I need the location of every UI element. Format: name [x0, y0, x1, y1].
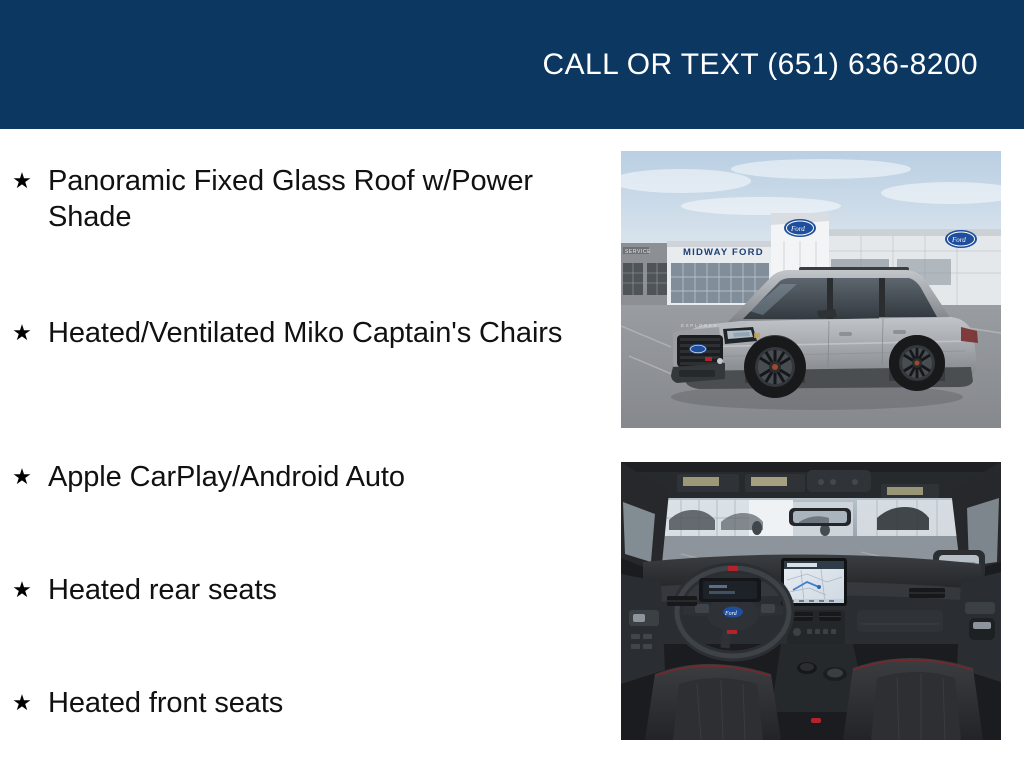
call-or-text-phone[interactable]: CALL OR TEXT (651) 636-8200 [543, 48, 978, 82]
list-item: ★ Heated/Ventilated Miko Captain's Chair… [10, 315, 590, 351]
svg-text:MIDWAY FORD: MIDWAY FORD [683, 247, 764, 258]
vehicle-interior-photo[interactable]: Ford [621, 462, 1001, 740]
feature-label: Heated rear seats [48, 572, 277, 608]
feature-list: ★ Panoramic Fixed Glass Roof w/Power Sha… [0, 129, 600, 768]
list-item: ★ Panoramic Fixed Glass Roof w/Power Sha… [10, 163, 590, 235]
feature-label: Apple CarPlay/Android Auto [48, 459, 405, 495]
feature-label: Heated front seats [48, 685, 283, 721]
svg-text:EXPLORER: EXPLORER [681, 323, 718, 328]
header-bar: CALL OR TEXT (651) 636-8200 [0, 0, 1024, 129]
feature-label: Heated/Ventilated Miko Captain's Chairs [48, 315, 562, 351]
star-icon: ★ [10, 315, 34, 351]
svg-text:Ford: Ford [790, 225, 805, 233]
svg-text:Ford: Ford [724, 611, 738, 617]
list-item: ★ Apple CarPlay/Android Auto [10, 459, 590, 495]
vehicle-exterior-photo[interactable]: SERVICE MIDWAY FORD Ford [621, 151, 1001, 428]
star-icon: ★ [10, 685, 34, 721]
list-item: ★ Heated rear seats [10, 572, 590, 608]
star-icon: ★ [10, 163, 34, 199]
list-item: ★ Heated front seats [10, 685, 590, 721]
star-icon: ★ [10, 459, 34, 495]
svg-text:SERVICE: SERVICE [625, 249, 651, 255]
svg-text:Ford: Ford [951, 236, 966, 244]
feature-label: Panoramic Fixed Glass Roof w/Power Shade [48, 163, 568, 235]
star-icon: ★ [10, 572, 34, 608]
